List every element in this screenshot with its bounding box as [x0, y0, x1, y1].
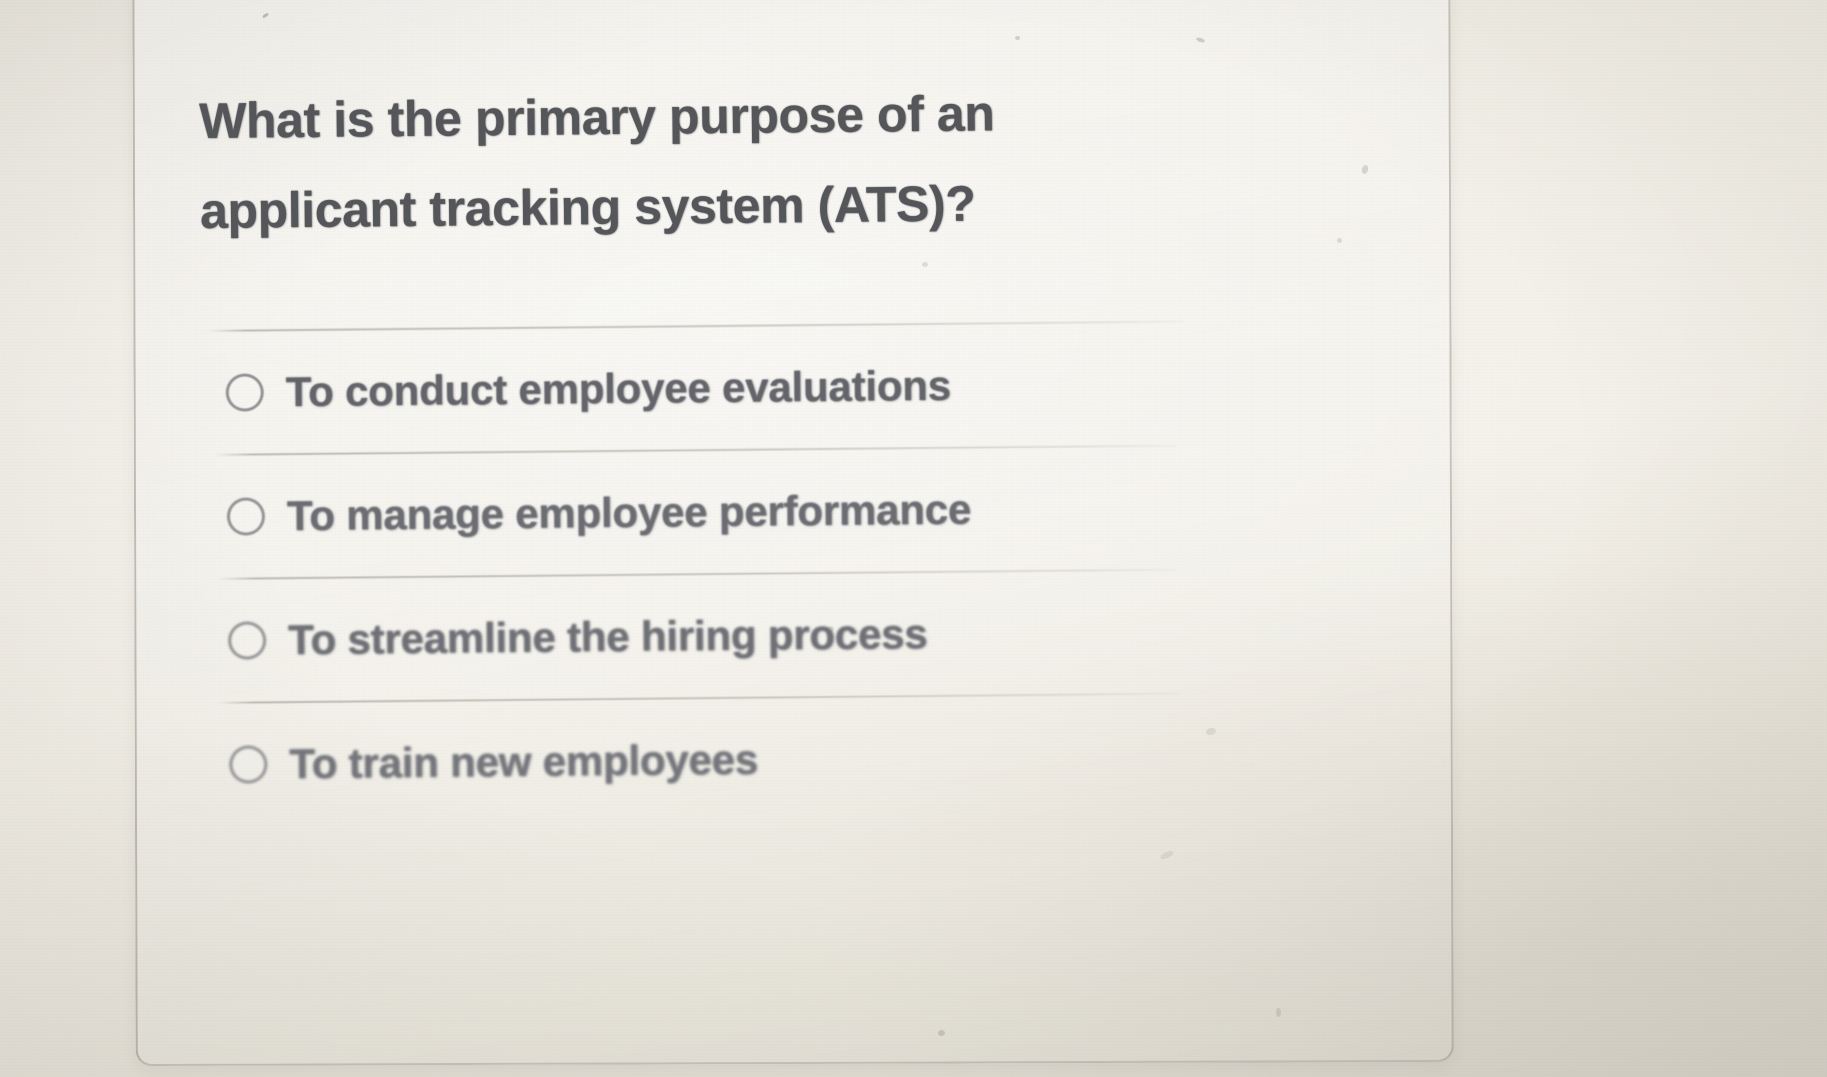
radio-unselected-icon[interactable] — [229, 745, 267, 783]
answer-option-c[interactable]: To streamline the hiring process — [202, 571, 1188, 702]
question-card-content: What is the primary purpose of an applic… — [196, 0, 1216, 1077]
question-line-2: applicant tracking system (ATS)? — [200, 159, 1101, 254]
answer-option-c-label: To streamline the hiring process — [288, 610, 928, 664]
answer-option-d-label: To train new employees — [289, 736, 758, 788]
answer-options-list: To conduct employee evaluations To manag… — [199, 321, 1189, 826]
answer-option-a-label: To conduct employee evaluations — [286, 362, 952, 416]
radio-unselected-icon[interactable] — [226, 373, 264, 411]
question-line-1: What is the primary purpose of an — [199, 69, 1100, 164]
question-text: What is the primary purpose of an applic… — [199, 69, 1101, 254]
radio-unselected-icon[interactable] — [228, 621, 266, 659]
answer-option-b[interactable]: To manage employee performance — [200, 447, 1186, 578]
answer-option-d[interactable]: To train new employees — [203, 695, 1189, 826]
photographed-screen-surface: What is the primary purpose of an applic… — [0, 0, 1827, 1077]
answer-option-b-label: To manage employee performance — [287, 486, 972, 541]
radio-unselected-icon[interactable] — [227, 497, 265, 535]
answer-option-a[interactable]: To conduct employee evaluations — [199, 323, 1185, 454]
